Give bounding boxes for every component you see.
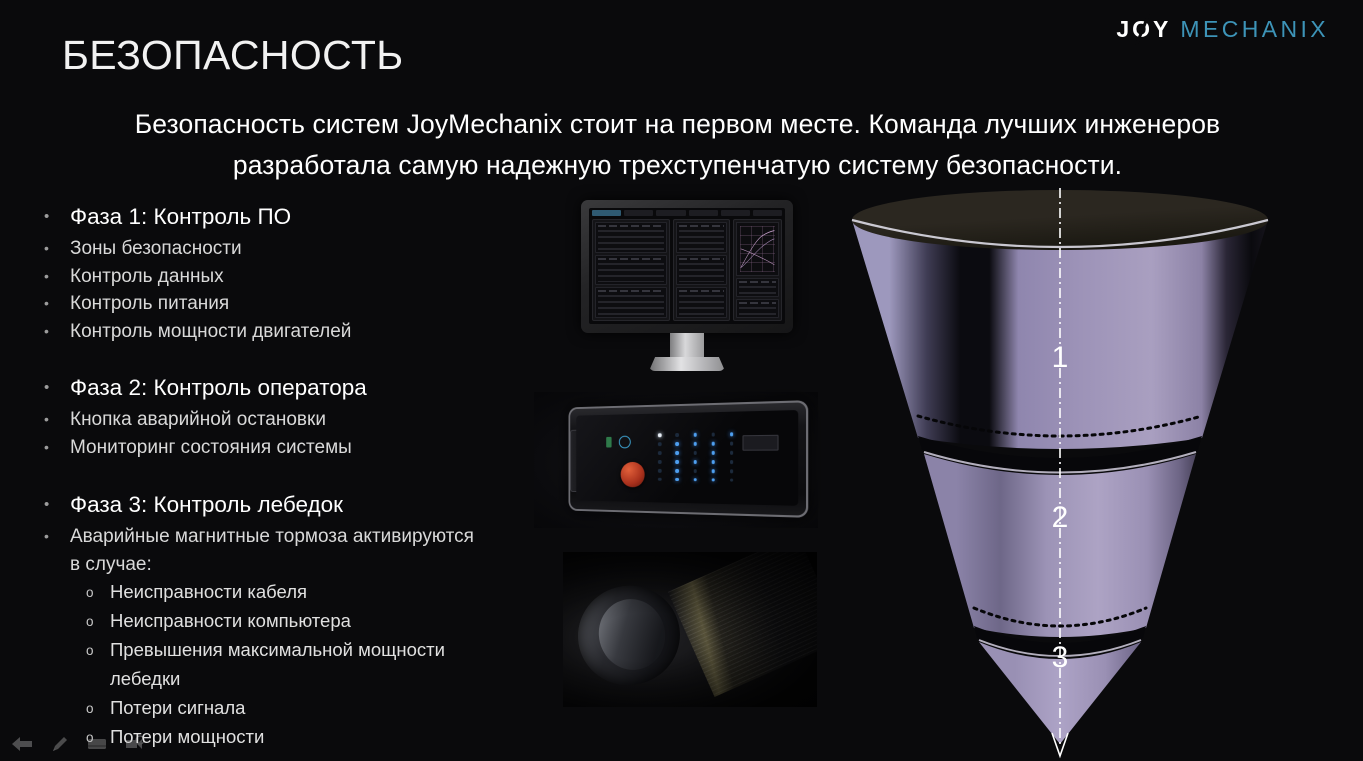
screen-column-left [592, 219, 670, 321]
phase-3-heading: • Фаза 3: Контроль лебедок [38, 488, 583, 521]
led-matrix [656, 429, 746, 487]
bullet-glyph: • [38, 434, 70, 462]
cone-top-face [852, 190, 1268, 250]
list-item-label: Кнопка аварийной остановки [70, 406, 583, 434]
list-item-label: Контроль питания [70, 290, 583, 318]
list-item: • Контроль данных [38, 263, 583, 291]
power-ring-icon [619, 435, 631, 448]
sub-list-item-label: Потери мощности [110, 723, 583, 750]
pointer-icon[interactable] [124, 735, 146, 753]
control-box-case [568, 400, 808, 518]
brand-logo: JOYMECHANIX [1116, 16, 1329, 43]
screen-tabbar [592, 210, 782, 216]
bullet-glyph: • [38, 200, 70, 233]
sub-list-item-label: Неисправности компьютера [110, 607, 583, 634]
bullet-glyph: • [38, 523, 70, 551]
cone-svg [840, 188, 1280, 761]
bullet-glyph-circle: o [38, 694, 110, 723]
bullet-glyph: • [38, 371, 70, 404]
bullet-spacer [38, 665, 110, 694]
sub-list-item-label: Превышения максимальной мощности [110, 636, 583, 663]
sub-list-item: o Потери сигнала [38, 694, 583, 723]
list-item: • Аварийные магнитные тормоза активируют… [38, 523, 583, 551]
control-box-display [742, 435, 778, 450]
monitor-base [649, 357, 725, 371]
status-led-green [606, 436, 611, 447]
list-item-continuation: в случае: [38, 551, 583, 579]
bullet-spacer [38, 551, 70, 579]
phase-1-block: • Фаза 1: Контроль ПО • Зоны безопасност… [38, 200, 583, 345]
bullet-glyph: • [38, 318, 70, 346]
section-gap [38, 345, 583, 371]
phase-3-block: • Фаза 3: Контроль лебедок • Аварийные м… [38, 488, 583, 752]
list-item-label: Контроль данных [70, 263, 583, 291]
monitor-screen [589, 208, 785, 324]
phase-2-heading: • Фаза 2: Контроль оператора [38, 371, 583, 404]
list-item-label: Аварийные магнитные тормоза активируются [70, 523, 583, 551]
phase-1-heading: • Фаза 1: Контроль ПО [38, 200, 583, 233]
phase-1-heading-text: Фаза 1: Контроль ПО [70, 200, 583, 233]
logo-secondary: MECHANIX [1180, 16, 1329, 43]
control-box-panel [576, 410, 798, 506]
three-stage-cone-diagram: 1 2 3 [840, 188, 1280, 761]
sub-list-item: o Превышения максимальной мощности [38, 636, 583, 665]
logo-primary: JOY [1116, 16, 1171, 43]
screen-column-mid [673, 219, 730, 321]
screen-columns [592, 219, 782, 321]
list-item: • Мониторинг состояния системы [38, 434, 583, 462]
cone-label-1: 1 [1052, 341, 1069, 375]
bullet-glyph-circle: o [38, 607, 110, 636]
bullet-glyph: • [38, 488, 70, 521]
list-item: • Контроль мощности двигателей [38, 318, 583, 346]
page-title: БЕЗОПАСНОСТЬ [62, 32, 404, 79]
cone-label-2: 2 [1052, 501, 1069, 535]
bullet-list: • Фаза 1: Контроль ПО • Зоны безопасност… [38, 200, 583, 752]
list-item: • Зоны безопасности [38, 235, 583, 263]
screen-graph [736, 222, 779, 276]
monitor-bezel [581, 200, 793, 333]
list-item: • Контроль питания [38, 290, 583, 318]
slide-canvas: JOYMECHANIX БЕЗОПАСНОСТЬ Безопасность си… [0, 0, 1363, 761]
list-item-label: в случае: [70, 551, 583, 579]
sub-list-item-label: Неисправности кабеля [110, 578, 583, 605]
sub-list-item-continuation: лебедки [38, 665, 583, 694]
bullet-glyph-circle: o [38, 578, 110, 607]
monitor-neck [670, 333, 704, 358]
bullet-glyph: • [38, 290, 70, 318]
back-arrow-icon[interactable] [10, 735, 34, 753]
sub-list-item: o Неисправности компьютера [38, 607, 583, 636]
bullet-glyph: • [38, 406, 70, 434]
winch-vignette [563, 552, 817, 707]
screen-column-right [733, 219, 782, 321]
list-item-label: Мониторинг состояния системы [70, 434, 583, 462]
phase-3-heading-text: Фаза 3: Контроль лебедок [70, 488, 583, 521]
bullet-glyph-circle: o [38, 636, 110, 665]
presentation-toolbar[interactable] [0, 727, 168, 761]
sub-list-item-label: Потери сигнала [110, 694, 583, 721]
bullet-glyph: • [38, 235, 70, 263]
pen-icon[interactable] [50, 734, 70, 754]
list-item: • Кнопка аварийной остановки [38, 406, 583, 434]
phase-2-block: • Фаза 2: Контроль оператора • Кнопка ав… [38, 371, 583, 461]
list-item-label: Контроль мощности двигателей [70, 318, 583, 346]
sub-list-item-label: лебедки [110, 665, 583, 692]
photo-software-monitor [573, 197, 801, 375]
section-gap [38, 461, 583, 488]
photo-winch-brake [563, 552, 817, 707]
photo-operator-control-box [534, 392, 818, 528]
sub-list-item: o Неисправности кабеля [38, 578, 583, 607]
cone-label-3: 3 [1052, 641, 1069, 675]
emergency-stop-button[interactable] [621, 462, 645, 488]
highlighter-icon[interactable] [86, 736, 108, 752]
bullet-glyph: • [38, 263, 70, 291]
list-item-label: Зоны безопасности [70, 235, 583, 263]
subtitle-paragraph: Безопасность систем JoyMechanix стоит на… [70, 104, 1285, 186]
phase-2-heading-text: Фаза 2: Контроль оператора [70, 371, 583, 404]
